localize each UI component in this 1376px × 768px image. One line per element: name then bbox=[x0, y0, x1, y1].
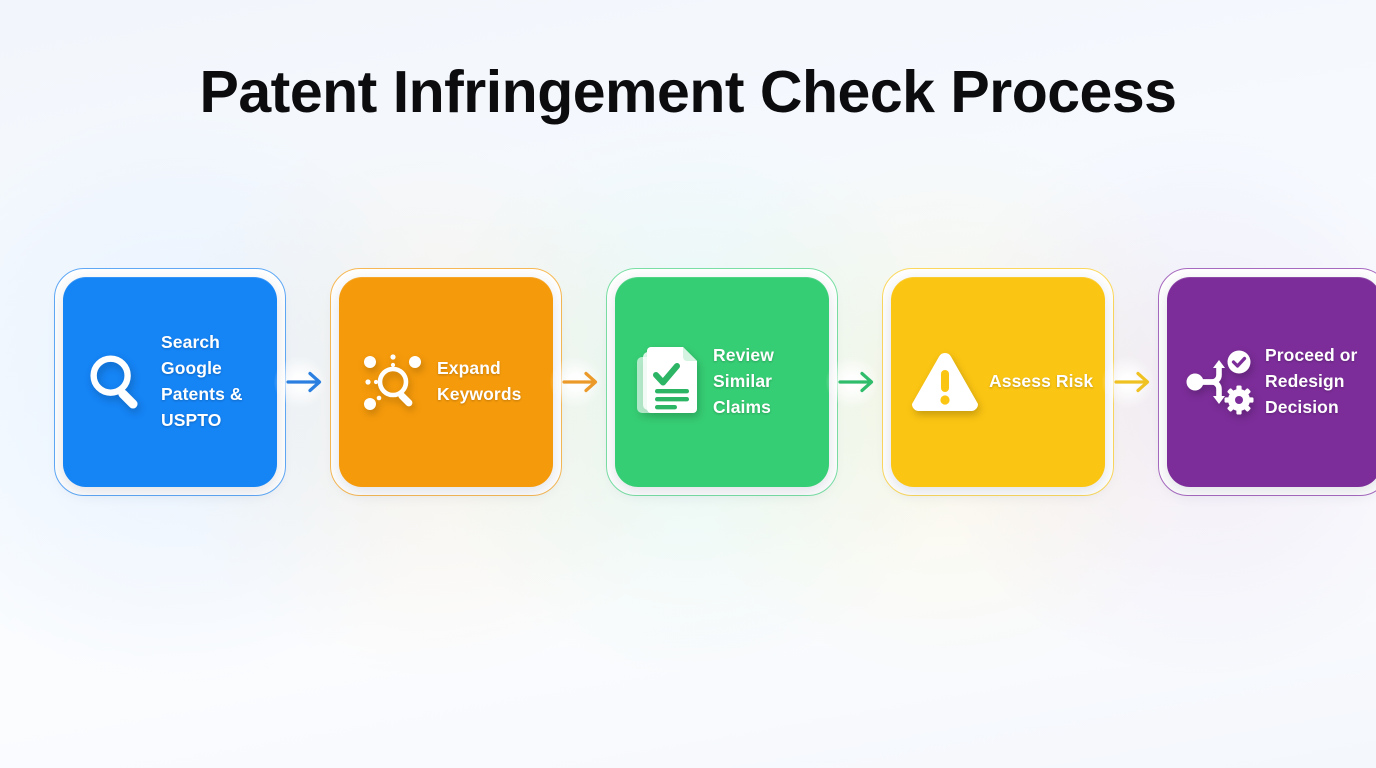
process-step-3[interactable]: Review Similar Claims bbox=[606, 268, 838, 496]
arrow-right-icon bbox=[286, 367, 330, 397]
arrow-right-icon bbox=[1114, 367, 1158, 397]
magnifier-icon bbox=[79, 340, 155, 424]
connector-4-to-5 bbox=[1114, 268, 1158, 496]
step-label-2: Expand Keywords bbox=[437, 356, 543, 408]
process-step-4[interactable]: Assess Risk bbox=[882, 268, 1114, 496]
connector-3-to-4 bbox=[838, 268, 882, 496]
step-label-4: Assess Risk bbox=[989, 369, 1095, 395]
connector-2-to-3 bbox=[562, 268, 606, 496]
step-label-3: Review Similar Claims bbox=[713, 343, 819, 421]
step-card-review-claims[interactable]: Review Similar Claims bbox=[615, 277, 829, 487]
document-check-icon bbox=[631, 340, 707, 424]
process-step-2[interactable]: Expand Keywords bbox=[330, 268, 562, 496]
step-label-1: Search Google Patents & USPTO bbox=[161, 330, 267, 434]
arrow-right-icon bbox=[838, 367, 882, 397]
connector-1-to-2 bbox=[286, 268, 330, 496]
magnifier-expand-dots-icon bbox=[355, 340, 431, 424]
step-card-decision[interactable]: Proceed or Redesign Decision bbox=[1167, 277, 1376, 487]
process-step-5[interactable]: Proceed or Redesign Decision bbox=[1158, 268, 1376, 496]
process-step-1[interactable]: Search Google Patents & USPTO bbox=[54, 268, 286, 496]
process-flow-diagram: Search Google Patents & USPTO bbox=[54, 268, 1322, 496]
step-card-expand-keywords[interactable]: Expand Keywords bbox=[339, 277, 553, 487]
step-label-5: Proceed or Redesign Decision bbox=[1265, 343, 1371, 421]
warning-triangle-icon bbox=[907, 340, 983, 424]
arrow-right-icon bbox=[562, 367, 606, 397]
step-card-assess-risk[interactable]: Assess Risk bbox=[891, 277, 1105, 487]
step-card-search[interactable]: Search Google Patents & USPTO bbox=[63, 277, 277, 487]
branch-decision-icon bbox=[1183, 340, 1259, 424]
page-title: Patent Infringement Check Process bbox=[0, 58, 1376, 126]
